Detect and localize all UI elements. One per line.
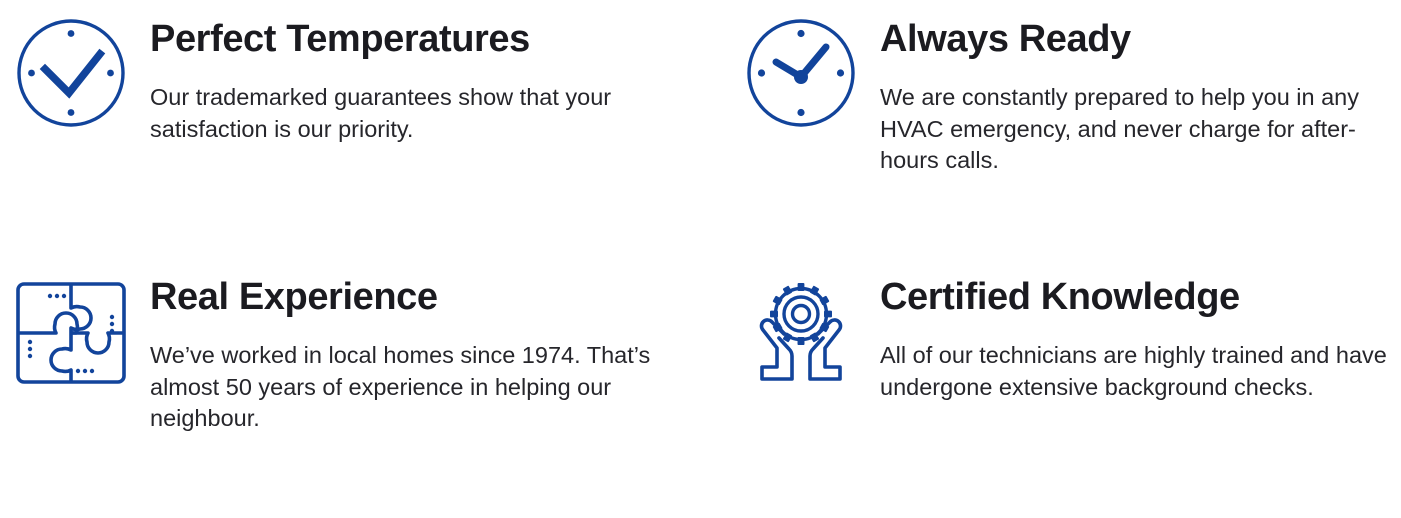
feature-description: Our trademarked guarantees show that you… (150, 82, 650, 145)
feature-body: Perfect Temperatures Our trademarked gua… (130, 14, 672, 145)
feature-body: Certified Knowledge All of our technicia… (860, 272, 1392, 403)
features-grid: Perfect Temperatures Our trademarked gua… (0, 0, 1401, 518)
feature-title: Real Experience (150, 274, 672, 320)
feature-body: Real Experience We’ve worked in local ho… (130, 272, 672, 435)
feature-body: Always Ready We are constantly prepared … (860, 14, 1392, 177)
checkmark-circle-icon (12, 14, 130, 132)
hands-holding-gear-icon (742, 272, 860, 390)
feature-description: We’ve worked in local homes since 1974. … (150, 340, 655, 435)
feature-title: Perfect Temperatures (150, 16, 672, 62)
feature-description: We are constantly prepared to help you i… (880, 82, 1370, 177)
feature-card-real-experience: Real Experience We’ve worked in local ho… (12, 272, 672, 435)
feature-title: Always Ready (880, 16, 1392, 62)
feature-title: Certified Knowledge (880, 274, 1392, 320)
feature-card-certified-knowledge: Certified Knowledge All of our technicia… (742, 272, 1392, 403)
feature-card-always-ready: Always Ready We are constantly prepared … (742, 14, 1392, 177)
feature-description: All of our technicians are highly traine… (880, 340, 1392, 403)
clock-icon (742, 14, 860, 132)
feature-card-perfect-temperatures: Perfect Temperatures Our trademarked gua… (12, 14, 672, 145)
puzzle-pieces-icon (12, 272, 130, 390)
